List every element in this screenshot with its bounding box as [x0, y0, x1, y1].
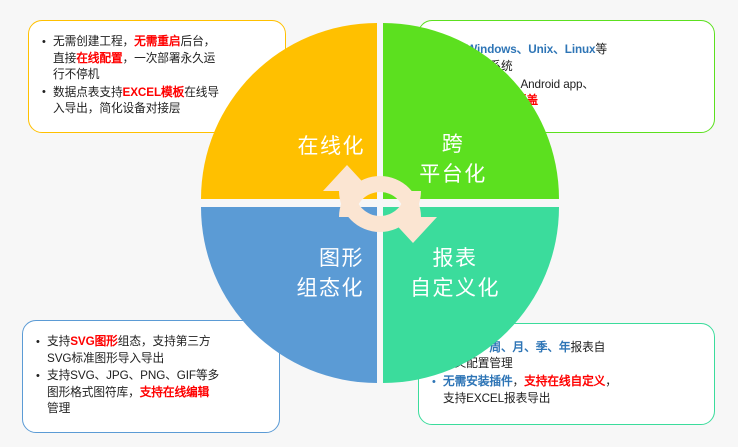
bullet-line: 行不停机 — [53, 67, 273, 84]
text-run: 图形格式图符库， — [47, 386, 140, 399]
bullet-line: 定义配置管理 — [443, 356, 702, 373]
bullet-line: 管理 — [47, 401, 267, 418]
callout-bottom-right: 支持日、周、月、季、年报表自定义配置管理无需安装插件，支持在线自定义，支持EXC… — [418, 323, 715, 425]
bullet-line: 数据点表支持EXCEL模板在线导 — [53, 85, 273, 102]
bullet-item: 支持PC Web、Android app、ios app全平台覆盖 — [432, 77, 702, 110]
bullet-item: 数据点表支持EXCEL模板在线导入导出，简化设备对接层 — [42, 85, 273, 118]
quadrant-label-bottom-left: 图形 组态化 — [252, 244, 364, 304]
callout-top-left: 无需创建工程，无需重启后台，直接在线配置，一次部署永久运行不停机数据点表支持EX… — [28, 20, 286, 133]
text-run: Windows、Unix、Linux — [466, 43, 595, 56]
text-run: ， — [605, 375, 617, 388]
callout-bottom-left-bullets: 支持SVG图形组态，支持第三方SVG标准图形导入导出支持SVG、JPG、PNG、… — [23, 334, 279, 419]
bullet-item: 支持Windows、Unix、Linux等平台操作系统 — [432, 42, 702, 75]
callout-top-right-bullets: 支持Windows、Unix、Linux等平台操作系统支持PC Web、Andr… — [419, 42, 714, 110]
text-run: SVG图形 — [70, 335, 118, 348]
infographic-canvas: 无需创建工程，无需重启后台，直接在线配置，一次部署永久运行不停机数据点表支持EX… — [0, 0, 738, 447]
text-run: 支持在线编辑 — [140, 386, 210, 399]
bullet-item: 支持SVG、JPG、PNG、GIF等多图形格式图符库，支持在线编辑管理 — [36, 368, 267, 418]
quadrant-label-top-left: 在线化 — [255, 132, 365, 162]
quadrant-label-bottom-right: 报表 自定义化 — [396, 244, 514, 304]
text-run: 无需重启 — [134, 35, 180, 48]
text-run: 管理 — [47, 402, 70, 415]
text-run: 报表自 — [570, 341, 605, 354]
bullet-line: 支持日、周、月、季、年报表自 — [443, 340, 702, 357]
text-run: 直接 — [53, 52, 76, 65]
bullet-line: 支持EXCEL报表导出 — [443, 391, 702, 408]
text-run: 支持在线自定义 — [524, 375, 605, 388]
bullet-line: 入导出，简化设备对接层 — [53, 101, 273, 118]
bullet-line: ios app全平台覆盖 — [443, 93, 702, 110]
text-run: 定义配置管理 — [443, 357, 513, 370]
text-run: 无需创建工程， — [53, 35, 134, 48]
text-run: 在线配置 — [76, 52, 122, 65]
text-run: 支持PC Web、Android app、 — [443, 78, 594, 91]
bullet-line: 支持PC Web、Android app、 — [443, 77, 702, 94]
text-run: 后台， — [180, 35, 215, 48]
quadrant-label-top-right: 跨 平台化 — [398, 130, 508, 190]
bullet-item: 支持SVG图形组态，支持第三方SVG标准图形导入导出 — [36, 334, 267, 367]
bullet-line: 图形格式图符库，支持在线编辑 — [47, 385, 267, 402]
bullet-line: 平台操作系统 — [443, 59, 702, 76]
bullet-line: 无需创建工程，无需重启后台， — [53, 34, 273, 51]
callout-top-right: 支持Windows、Unix、Linux等平台操作系统支持PC Web、Andr… — [418, 20, 715, 133]
callout-top-left-bullets: 无需创建工程，无需重启后台，直接在线配置，一次部署永久运行不停机数据点表支持EX… — [29, 34, 285, 119]
text-run: SVG标准图形导入导出 — [47, 352, 164, 365]
text-run: 无需安装插件 — [443, 375, 513, 388]
bullet-line: 直接在线配置，一次部署永久运 — [53, 51, 273, 68]
bullet-line: 无需安装插件，支持在线自定义， — [443, 374, 702, 391]
bullet-item: 支持日、周、月、季、年报表自定义配置管理 — [432, 340, 702, 373]
text-run: 支持 — [443, 43, 466, 56]
text-run: 组态，支持第三方 — [118, 335, 211, 348]
text-run: 支持SVG、JPG、PNG、GIF等多 — [47, 369, 219, 382]
bullet-line: SVG标准图形导入导出 — [47, 351, 267, 368]
text-run: ， — [513, 375, 525, 388]
text-run: 入导出，简化设备对接层 — [53, 102, 180, 115]
text-run: ios app — [443, 94, 480, 107]
text-run: 平台操作系统 — [443, 60, 513, 73]
text-run: 支持 — [443, 341, 466, 354]
text-run: 支持 — [47, 335, 70, 348]
bullet-item: 无需安装插件，支持在线自定义，支持EXCEL报表导出 — [432, 374, 702, 407]
bullet-line: 支持SVG图形组态，支持第三方 — [47, 334, 267, 351]
callout-bottom-left: 支持SVG图形组态，支持第三方SVG标准图形导入导出支持SVG、JPG、PNG、… — [22, 320, 280, 433]
text-run: 数据点表支持 — [53, 86, 123, 99]
text-run: 等 — [595, 43, 607, 56]
text-run: ，一次部署永久运 — [123, 52, 216, 65]
bullet-line: 支持SVG、JPG、PNG、GIF等多 — [47, 368, 267, 385]
text-run: 全平台覆盖 — [480, 94, 538, 107]
bullet-line: 支持Windows、Unix、Linux等 — [443, 42, 702, 59]
callout-bottom-right-bullets: 支持日、周、月、季、年报表自定义配置管理无需安装插件，支持在线自定义，支持EXC… — [419, 340, 714, 408]
text-run: 行不停机 — [53, 68, 99, 81]
text-run: 支持EXCEL报表导出 — [443, 392, 550, 405]
bullet-item: 无需创建工程，无需重启后台，直接在线配置，一次部署永久运行不停机 — [42, 34, 273, 84]
text-run: 在线导 — [184, 86, 219, 99]
text-run: 日、周、月、季、年 — [466, 341, 570, 354]
text-run: EXCEL模板 — [123, 86, 185, 99]
